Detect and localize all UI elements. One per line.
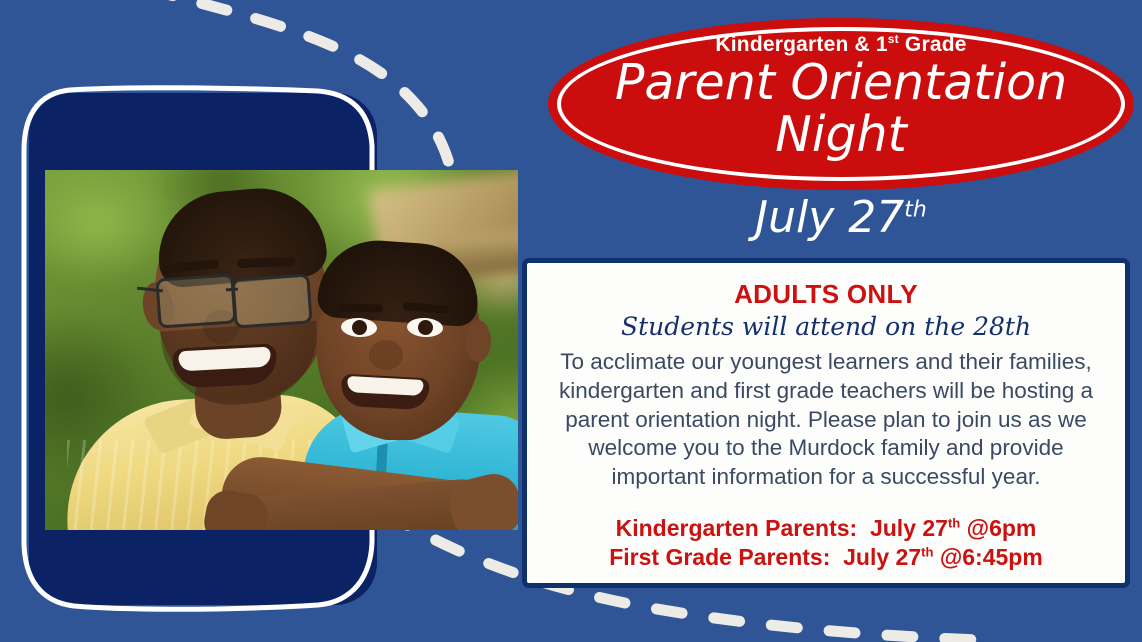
session-label: First Grade Parents: (609, 544, 830, 570)
orientation-night-flyer: Kindergarten & 1st Grade Parent Orientat… (0, 0, 1142, 642)
banner-eyebrow-superscript: st (888, 32, 899, 46)
boy-ear (465, 320, 491, 362)
banner-text-block: Kindergarten & 1st Grade Parent Orientat… (548, 32, 1134, 159)
details-card: ADULTS ONLY Students will attend on the … (522, 258, 1130, 588)
man-teeth (178, 347, 271, 372)
eyeglasses-right-lens (231, 273, 312, 328)
session-time-row: First Grade Parents: July 27th @6:45pm (545, 543, 1107, 572)
students-attend-note: Students will attend on the 28th (545, 312, 1107, 341)
session-date: July 27 (843, 544, 921, 570)
banner-title-line-1: Parent Orientation (548, 58, 1134, 108)
boy-teeth (347, 376, 424, 396)
eyeglasses-left-lens (155, 273, 236, 328)
boy-nose (369, 340, 403, 370)
session-time: @6pm (967, 515, 1037, 541)
event-date: July 27th (548, 192, 1134, 243)
session-time: @6:45pm (940, 544, 1043, 570)
adults-only-heading: ADULTS ONLY (545, 279, 1107, 310)
event-date-superscript: th (904, 197, 927, 222)
session-date-superscript: th (921, 545, 933, 560)
boy-eyebrow-left (337, 303, 383, 313)
banner-eyebrow-suffix: Grade (899, 33, 967, 56)
description-paragraph: To acclimate our youngest learners and t… (545, 348, 1107, 492)
session-label: Kindergarten Parents: (616, 515, 858, 541)
event-date-text: July 27 (755, 192, 904, 243)
banner-eyebrow-prefix: Kindergarten & 1 (715, 33, 887, 56)
boy-smile (340, 374, 430, 411)
session-date-superscript: th (948, 515, 960, 530)
session-time-row: Kindergarten Parents: July 27th @6pm (545, 514, 1107, 543)
session-date: July 27 (870, 515, 948, 541)
family-photo (45, 170, 518, 530)
session-times: Kindergarten Parents: July 27th @6pm Fir… (545, 514, 1107, 573)
title-banner: Kindergarten & 1st Grade Parent Orientat… (548, 18, 1134, 190)
banner-title-line-2: Night (548, 110, 1134, 159)
